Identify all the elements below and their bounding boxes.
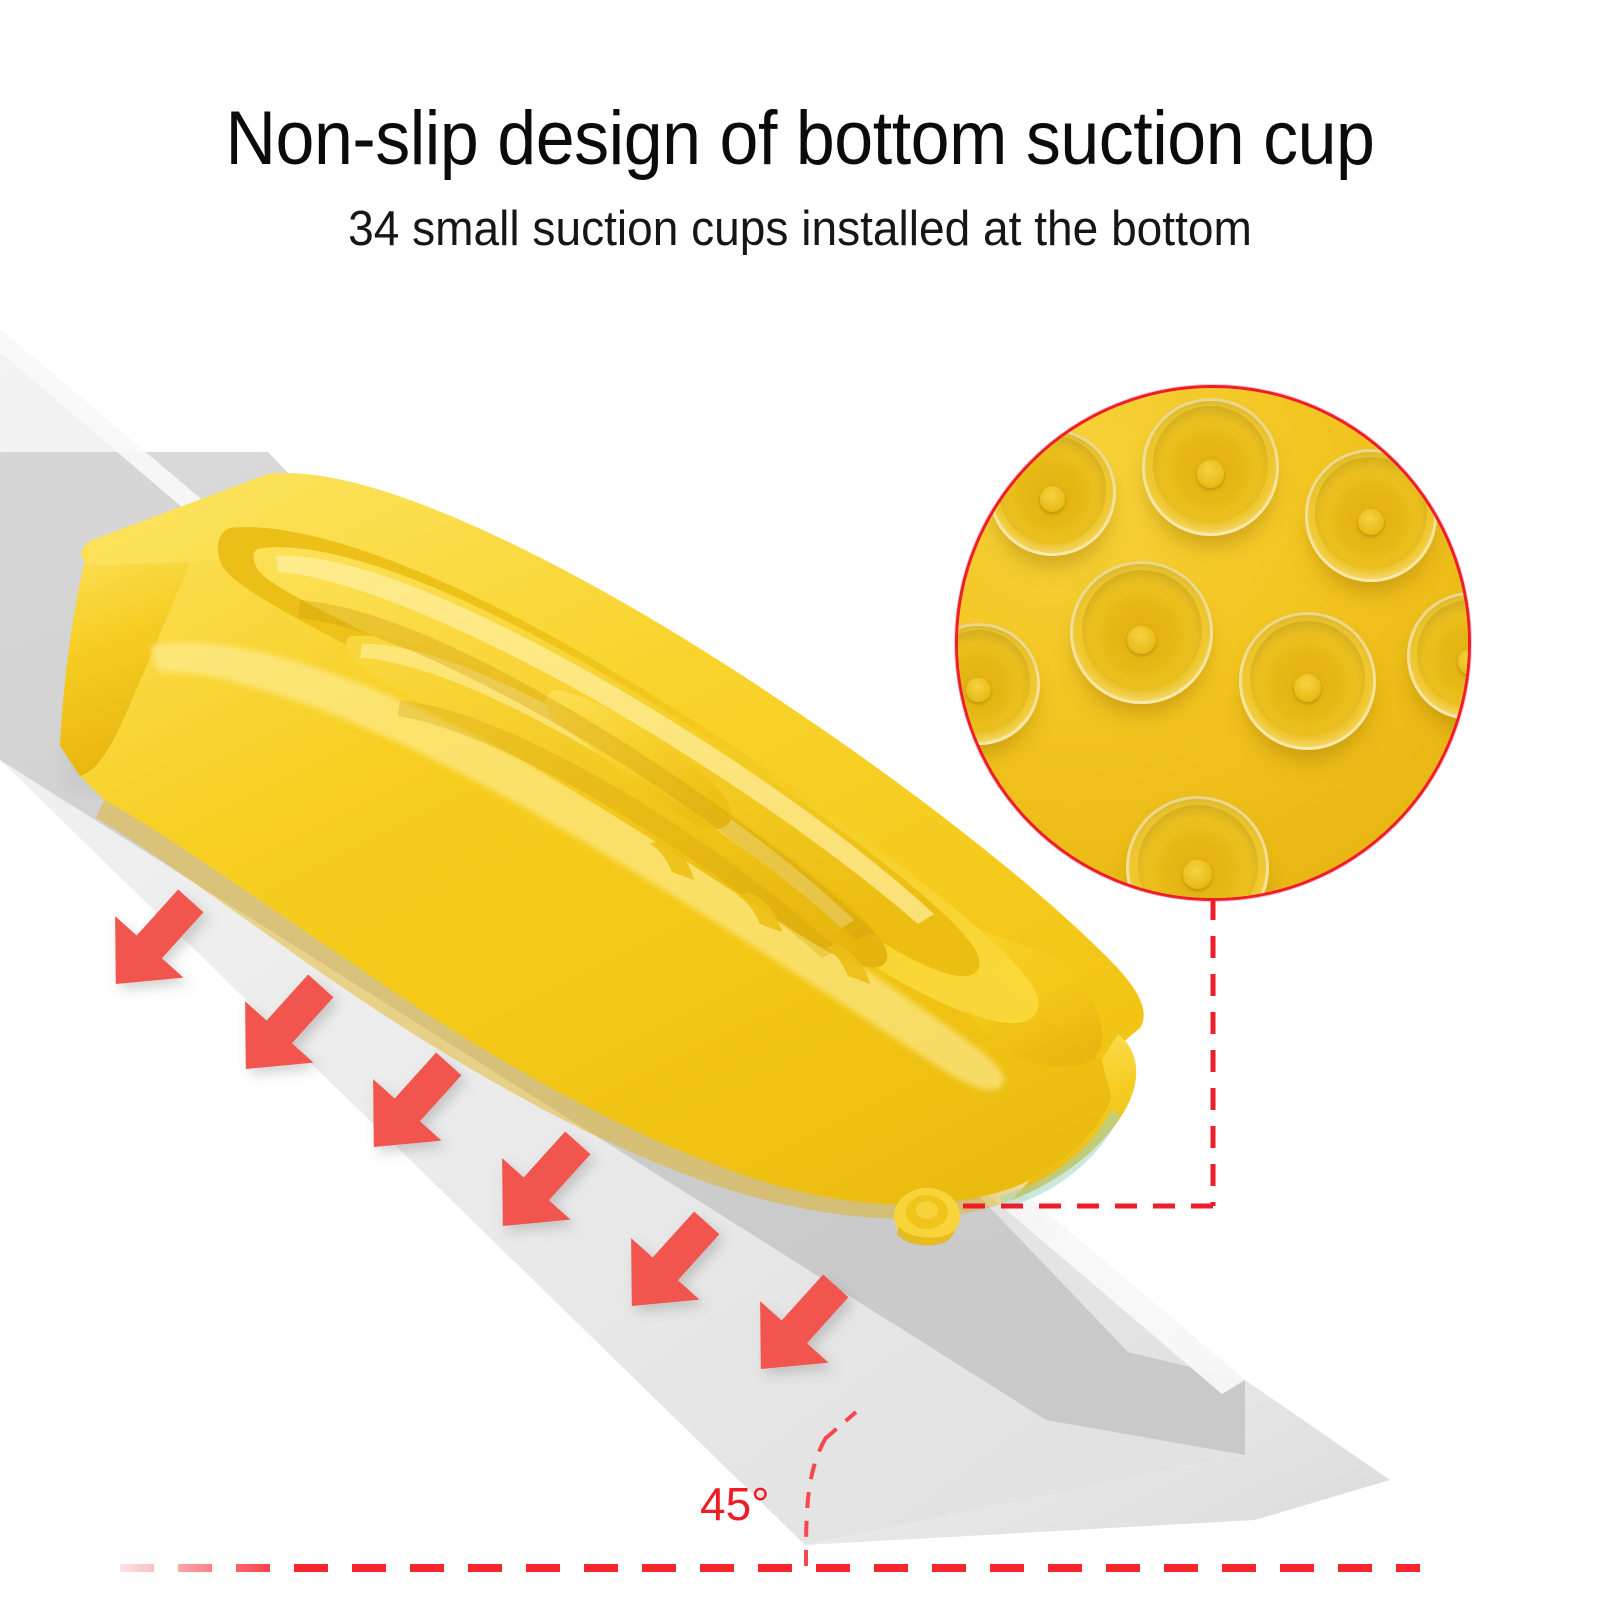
closeup-surface	[958, 388, 1468, 898]
suction-cup	[989, 429, 1117, 557]
suction-cup	[955, 623, 1040, 745]
bowl-front-suction-nub	[894, 1188, 960, 1246]
suction-cup	[1126, 796, 1269, 901]
suction-cup	[1239, 612, 1377, 750]
suction-cup	[1386, 806, 1471, 901]
cup-rim	[1386, 806, 1471, 901]
cup-rim	[1239, 612, 1377, 750]
cup-rim	[1070, 561, 1213, 704]
cup-rim	[955, 623, 1040, 745]
suction-cup	[1142, 398, 1280, 536]
suction-cup	[1407, 592, 1471, 720]
cup-rim	[989, 429, 1117, 557]
suction-cup	[1305, 449, 1438, 582]
cup-rim	[1126, 796, 1269, 901]
cup-rim	[1142, 398, 1280, 536]
suction-cup-closeup[interactable]	[955, 385, 1471, 901]
cup-rim	[1305, 449, 1438, 582]
suction-cup	[1070, 561, 1213, 704]
angle-label: 45°	[700, 1478, 770, 1530]
infographic-canvas: Non-slip design of bottom suction cup 34…	[0, 0, 1600, 1600]
cup-rim	[1407, 592, 1471, 720]
